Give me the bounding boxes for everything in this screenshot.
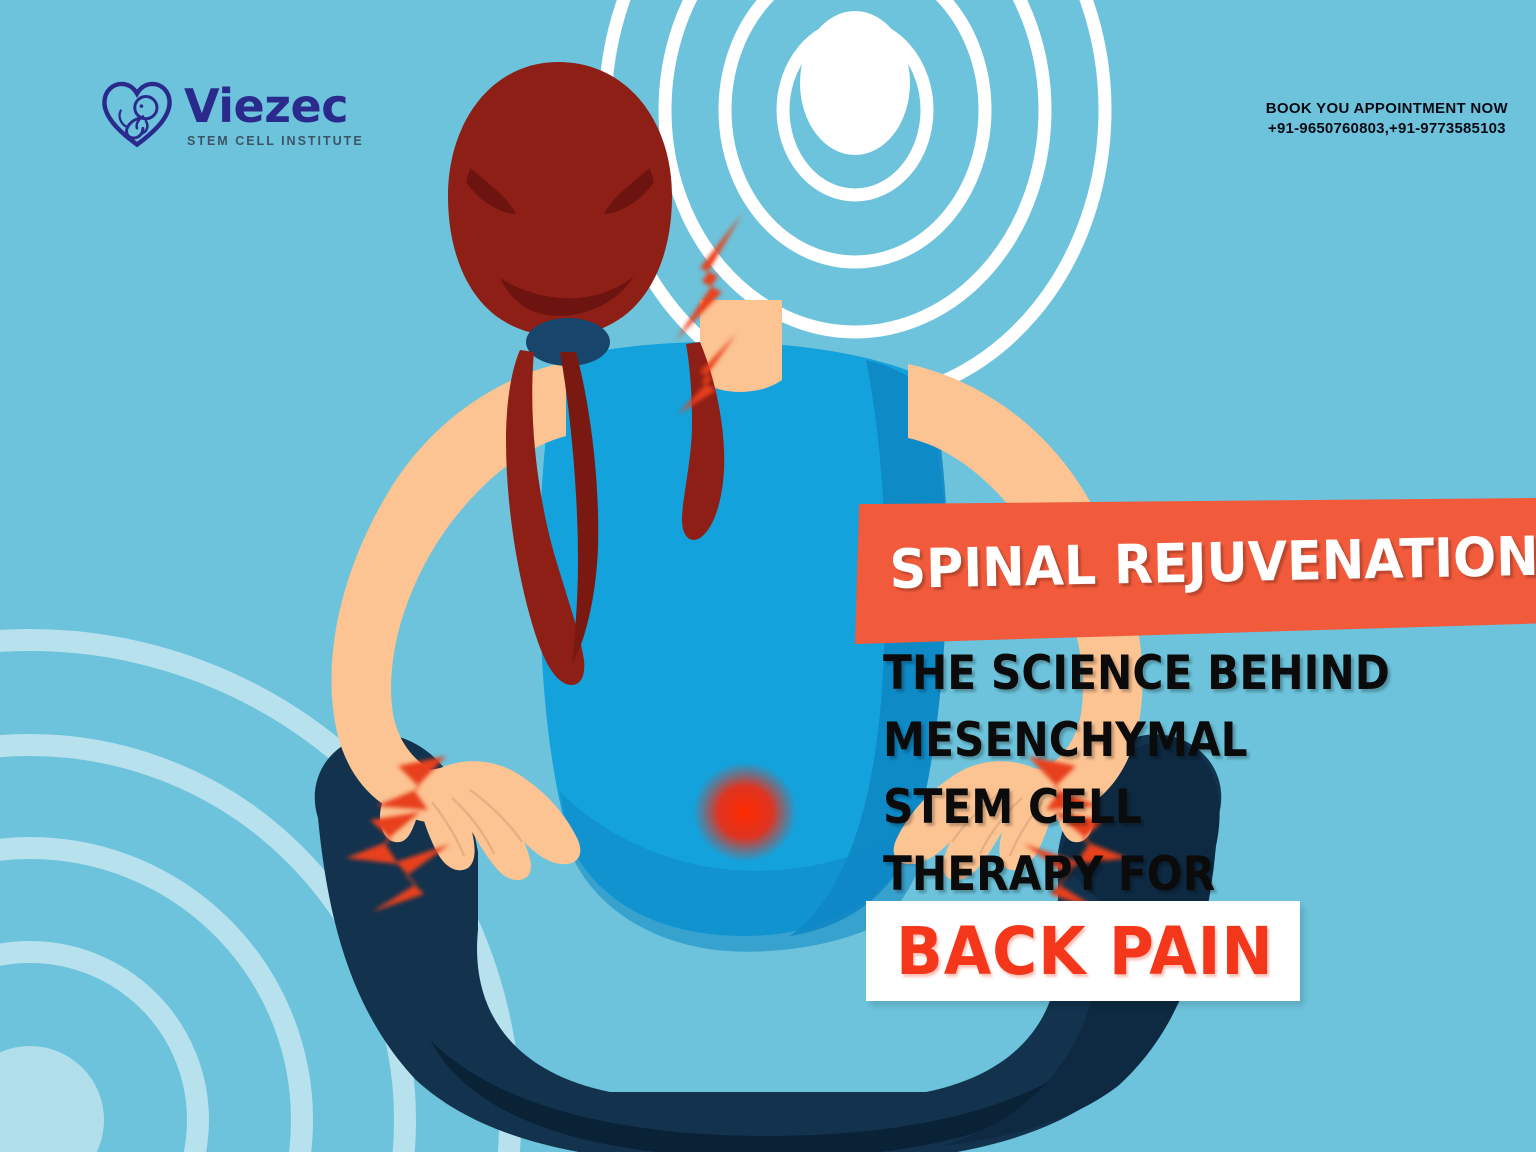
headline-banner-text: SPINAL REJUVENATION: (889, 524, 1536, 601)
headline-block: SPINAL REJUVENATION: THE SCIENCE BEHIND … (855, 498, 1536, 644)
heart-fetus-icon (100, 78, 174, 152)
contact-block[interactable]: BOOK YOU APPOINTMENT NOW +91-9650760803,… (1266, 100, 1508, 137)
brand-logo-text: Viezec STEM CELL INSTITUTE (184, 83, 364, 148)
brand-tagline: STEM CELL INSTITUTE (187, 135, 364, 148)
poster-canvas: Viezec STEM CELL INSTITUTE BOOK YOU APPO… (0, 0, 1536, 1152)
brand-logo[interactable]: Viezec STEM CELL INSTITUTE (100, 78, 364, 152)
headline-banner: SPINAL REJUVENATION: (855, 498, 1536, 644)
headline-sub-line-4: THERAPY FOR (883, 851, 1471, 898)
brand-name: Viezec (184, 83, 364, 129)
pain-glow-spot (693, 762, 797, 862)
emphasis-box: BACK PAIN (866, 901, 1300, 1001)
headline-sub-line-2: MESENCHYMAL (883, 717, 1471, 764)
cta-label: BOOK YOU APPOINTMENT NOW (1266, 100, 1508, 117)
headline-sub-line-3: STEM CELL (883, 784, 1471, 831)
phone-numbers[interactable]: +91-9650760803,+91-9773585103 (1266, 120, 1508, 137)
headline-sub-lines: THE SCIENCE BEHIND MESENCHYMAL STEM CELL… (855, 650, 1536, 918)
emphasis-text: BACK PAIN (896, 913, 1274, 990)
headline-sub-line-1: THE SCIENCE BEHIND (883, 650, 1471, 697)
